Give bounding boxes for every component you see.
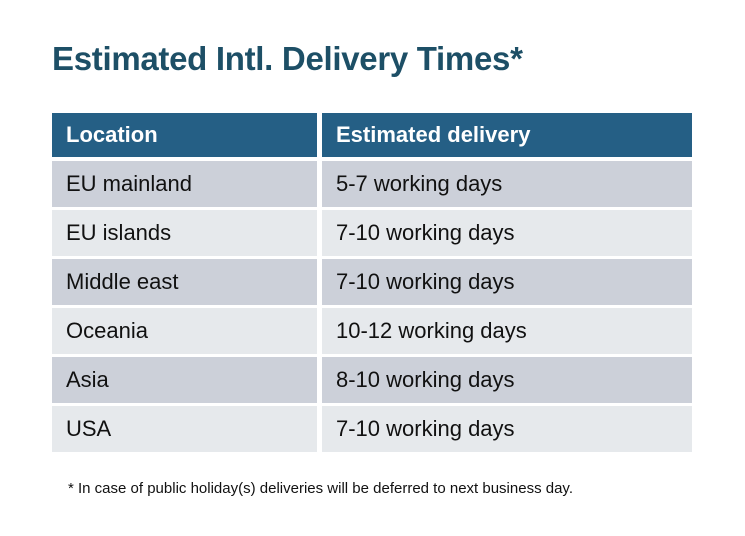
- delivery-times-table: Location Estimated delivery EU mainland …: [52, 113, 692, 452]
- cell-location: USA: [52, 406, 317, 452]
- table-row: EU islands 7-10 working days: [52, 210, 692, 256]
- table-row: USA 7-10 working days: [52, 406, 692, 452]
- cell-estimated-delivery: 7-10 working days: [322, 210, 692, 256]
- cell-location: Asia: [52, 357, 317, 403]
- table-row: Middle east 7-10 working days: [52, 259, 692, 305]
- cell-estimated-delivery: 10-12 working days: [322, 308, 692, 354]
- column-header-estimated-delivery: Estimated delivery: [322, 113, 692, 157]
- cell-location: EU islands: [52, 210, 317, 256]
- table-header-row: Location Estimated delivery: [52, 113, 692, 157]
- cell-estimated-delivery: 7-10 working days: [322, 259, 692, 305]
- table-row: Oceania 10-12 working days: [52, 308, 692, 354]
- table-row: Asia 8-10 working days: [52, 357, 692, 403]
- delivery-times-page: Estimated Intl. Delivery Times* Location…: [0, 0, 745, 536]
- cell-location: Oceania: [52, 308, 317, 354]
- page-title: Estimated Intl. Delivery Times*: [52, 38, 523, 80]
- cell-location: Middle east: [52, 259, 317, 305]
- table-row: EU mainland 5-7 working days: [52, 161, 692, 207]
- cell-estimated-delivery: 7-10 working days: [322, 406, 692, 452]
- cell-location: EU mainland: [52, 161, 317, 207]
- footnote: * In case of public holiday(s) deliverie…: [68, 479, 573, 499]
- column-header-location: Location: [52, 113, 317, 157]
- cell-estimated-delivery: 5-7 working days: [322, 161, 692, 207]
- cell-estimated-delivery: 8-10 working days: [322, 357, 692, 403]
